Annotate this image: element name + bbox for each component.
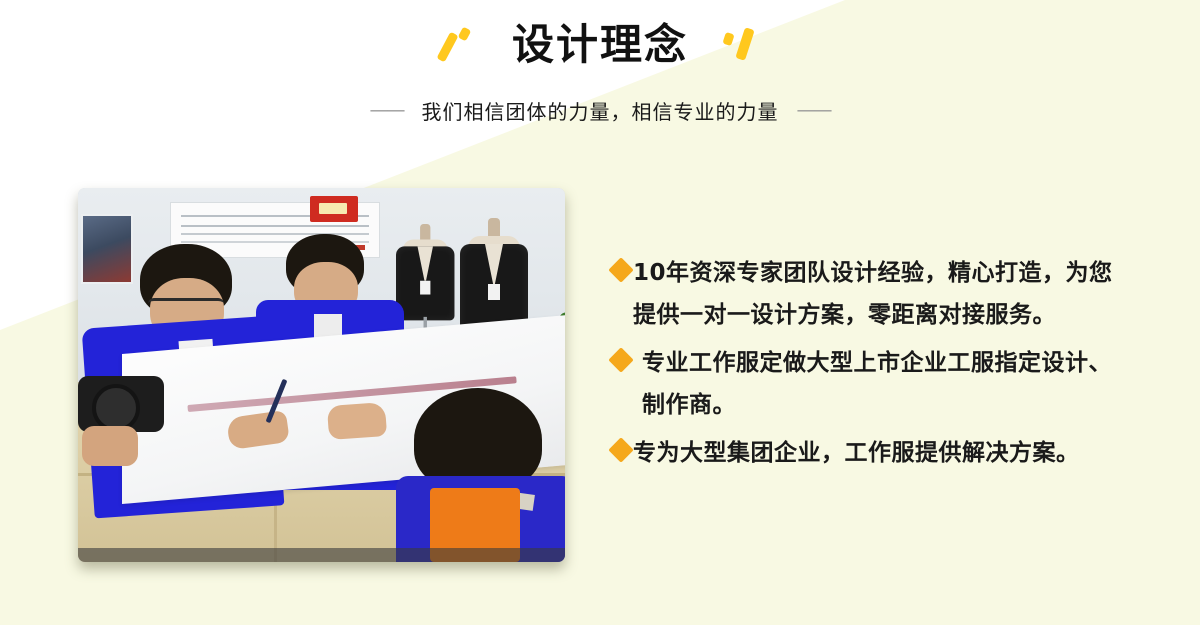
diamond-bullet-icon (608, 347, 633, 372)
feature-item-1: 10年资深专家团队设计经验，精心打造，为您 提供一对一设计方案，零距离对接服务。 (612, 252, 1182, 336)
subtitle-row: —— 我们相信团体的力量，相信专业的力量 —— (0, 96, 1200, 125)
poster-canvas: 设计理念 —— 我们相信团体的力量，相信专业的力量 —— (0, 0, 1200, 625)
subtitle-dash-left: —— (370, 101, 404, 120)
double-slash-ornament-right-icon (718, 23, 762, 67)
feature-list: 10年资深专家团队设计经验，精心打造，为您 提供一对一设计方案，零距离对接服务。… (612, 252, 1182, 480)
page-subtitle: 我们相信团体的力量，相信专业的力量 (422, 96, 779, 125)
diamond-bullet-icon (608, 257, 633, 282)
feature-3-line-1: 专为大型集团企业，工作服提供解决方案。 (633, 440, 1080, 466)
feature-2-line-2: 制作商。 (642, 392, 736, 418)
feature-item-3: 专为大型集团企业，工作服提供解决方案。 (612, 432, 1182, 474)
subtitle-dash-right: —— (797, 101, 831, 120)
team-design-photo (78, 188, 565, 562)
hand-holding-camera (82, 426, 138, 466)
double-slash-ornament-left-icon (438, 23, 482, 67)
feature-2-line-1: 专业工作服定做大型上市企业工服指定设计、 (642, 350, 1112, 376)
title-row: 设计理念 (0, 22, 1200, 68)
header-section: 设计理念 —— 我们相信团体的力量，相信专业的力量 —— (0, 0, 1200, 150)
feature-1-line-2: 提供一对一设计方案，零距离对接服务。 (633, 302, 1056, 328)
photo-scene (78, 188, 565, 562)
red-wall-sign (310, 196, 358, 222)
feature-item-2: 专业工作服定做大型上市企业工服指定设计、 制作商。 (612, 342, 1182, 426)
photo-foreground-shadow (78, 548, 565, 562)
feature-1-line-1: 10年资深专家团队设计经验，精心打造，为您 (633, 260, 1113, 286)
hand-on-paper (327, 402, 387, 440)
camera-icon (78, 376, 164, 432)
page-title: 设计理念 (512, 22, 688, 68)
diamond-bullet-icon (608, 437, 633, 462)
